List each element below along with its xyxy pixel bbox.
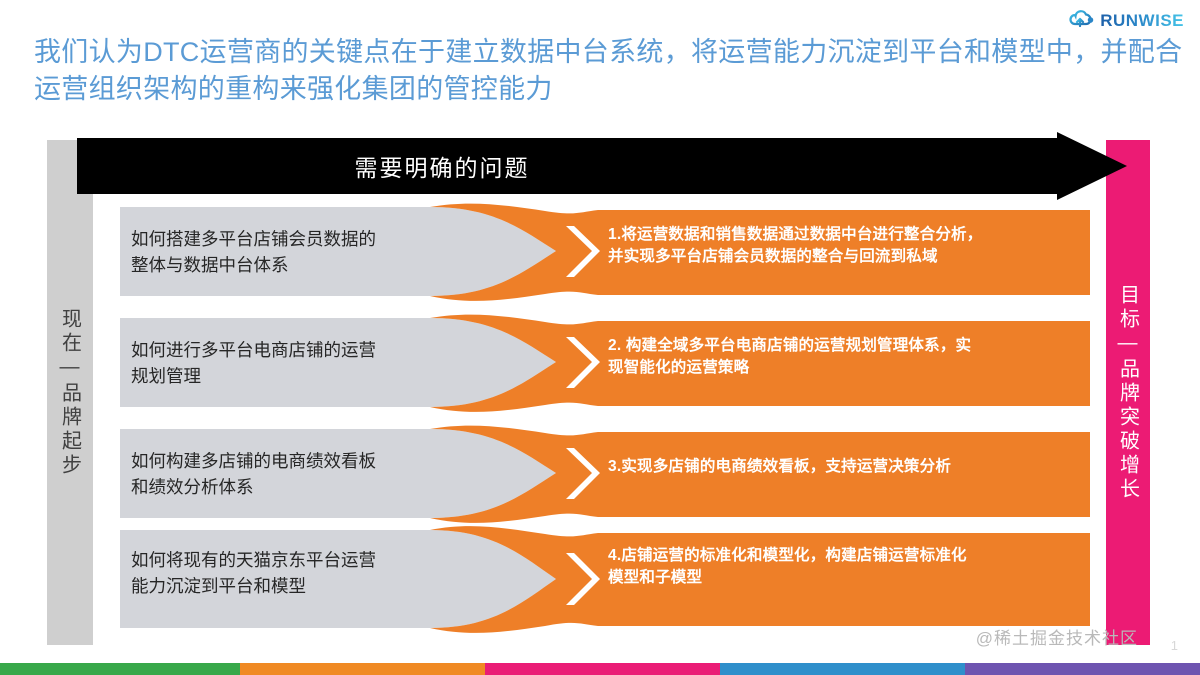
row-3-question-text: 如何构建多店铺的电商绩效看板 和绩效分析体系 <box>131 448 441 501</box>
footer-segment-green <box>0 663 240 675</box>
cloud-arrow-icon <box>1069 9 1095 31</box>
right-axis-bar: 目标—品牌突破增长 <box>1106 140 1150 645</box>
footer-segment-pink <box>485 663 720 675</box>
row-1-question-text: 如何搭建多平台店铺会员数据的 整体与数据中台体系 <box>131 226 441 279</box>
watermark-text: @稀土掘金技术社区 <box>976 624 1138 649</box>
footer-segment-orange <box>240 663 485 675</box>
footer-segment-blue <box>720 663 965 675</box>
page-number: 1 <box>1171 638 1178 653</box>
row-2-question-text: 如何进行多平台电商店铺的运营 规划管理 <box>131 337 441 390</box>
logo-wordmark: RUNWISE <box>1100 12 1184 29</box>
footer-segment-purple <box>965 663 1200 675</box>
row-3-chevron-icon <box>566 448 600 499</box>
runwise-logo: RUNWISE <box>1069 8 1184 32</box>
right-axis-label: 目标—品牌突破增长 <box>1114 284 1143 502</box>
row-2-answer-text: 2. 构建全域多平台电商店铺的运营规划管理体系，实 现智能化的运营策略 <box>608 335 1080 380</box>
footer-color-strip <box>0 663 1200 675</box>
row-4-question-text: 如何将现有的天猫京东平台运营 能力沉淀到平台和模型 <box>131 547 441 600</box>
row-3-answer-text: 3.实现多店铺的电商绩效看板，支持运营决策分析 <box>608 456 1080 478</box>
row-4-answer-text: 4.店铺运营的标准化和模型化，构建店铺运营标准化 模型和子模型 <box>608 545 1080 590</box>
row-1-chevron-icon <box>566 226 600 277</box>
left-axis-bar: 现在—品牌起步 <box>47 140 93 645</box>
row-4-chevron-icon <box>566 553 600 605</box>
page-title: 我们认为DTC运营商的关键点在于建立数据中台系统，将运营能力沉淀到平台和模型中，… <box>34 34 1184 109</box>
section-banner-label: 需要明确的问题 <box>355 149 530 183</box>
left-axis-label: 现在—品牌起步 <box>56 308 85 478</box>
row-1-answer-text: 1.将运营数据和销售数据通过数据中台进行整合分析， 并实现多平台店铺会员数据的整… <box>608 224 1080 269</box>
section-banner: 需要明确的问题 <box>77 132 1127 200</box>
row-2-chevron-icon <box>566 337 600 388</box>
slide-canvas: RUNWISE 我们认为DTC运营商的关键点在于建立数据中台系统，将运营能力沉淀… <box>0 0 1200 675</box>
